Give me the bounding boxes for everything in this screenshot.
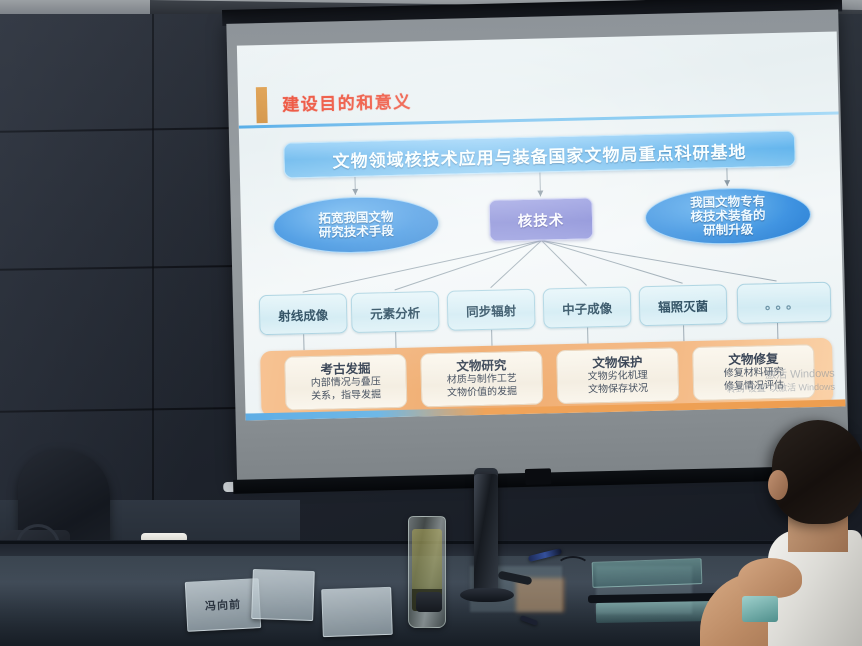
application-heading: 文物保护 (592, 355, 642, 371)
technique-box-more: 。。。 (737, 282, 832, 324)
application-desc-line1: 文物劣化机理 (588, 370, 648, 384)
name-placard: 冯向前 (185, 578, 262, 632)
technique-label: 元素分析 (370, 302, 420, 322)
technique-box: 中子成像 (543, 286, 632, 328)
title-accent-bar (256, 87, 268, 123)
technique-row: 射线成像 元素分析 同步辐射 中子成像 辐照灭菌 。。。 (259, 282, 832, 335)
microphone-base (460, 588, 514, 602)
technique-box: 元素分析 (351, 291, 440, 333)
application-desc-line1: 内部情况与叠压 (311, 376, 381, 390)
goal-node-right: 我国文物专有 核技术装备的 研制升级 (644, 186, 811, 246)
application-box: 文物研究 材质与制作工艺 文物价值的发掘 (420, 351, 543, 408)
tablet-tray (592, 558, 703, 588)
application-desc-line2: 关系，指导发掘 (311, 390, 381, 404)
attendee-phone (742, 596, 778, 622)
application-box: 文物保护 文物劣化机理 文物保存状况 (556, 347, 679, 404)
screen-pull-knob (525, 468, 551, 485)
application-heading: 考古发掘 (320, 361, 370, 377)
wall-seam-vertical (152, 14, 154, 574)
application-desc-line1: 材质与制作工艺 (447, 373, 517, 387)
goal-node-left: 拓宽我国文物 研究技术手段 (272, 195, 439, 255)
slide-title: 建设目的和意义 (282, 88, 412, 116)
conference-room-photo: 建设目的和意义 文物领域核技术应用与装备国家文物局重点科研基地 拓宽我国文物 研… (0, 0, 862, 646)
screen-surface: 建设目的和意义 文物领域核技术应用与装备国家文物局重点科研基地 拓宽我国文物 研… (226, 9, 849, 483)
application-box: 考古发掘 内部情况与叠压 关系，指导发掘 (284, 354, 407, 411)
technique-label: 射线成像 (278, 304, 328, 324)
microphone-stem (474, 474, 498, 594)
base-name-text: 文物领域核技术应用与装备国家文物局重点科研基地 (332, 137, 746, 172)
name-placard (321, 587, 393, 637)
cable (556, 556, 590, 578)
name-placard (251, 569, 315, 621)
presentation-slide: 建设目的和意义 文物领域核技术应用与装备国家文物局重点科研基地 拓宽我国文物 研… (237, 32, 846, 421)
name-placard-text: 冯向前 (205, 596, 242, 614)
windows-activation-watermark: 激活 Windows 转到"设置"以激活 Windows (726, 368, 835, 396)
attendee-head (772, 420, 862, 524)
core-technology-node: 核技术 (489, 197, 594, 241)
technique-ellipsis-label: 。。。 (765, 293, 803, 313)
technique-box: 射线成像 (259, 293, 348, 335)
base-name-banner: 文物领域核技术应用与装备国家文物局重点科研基地 (283, 131, 796, 179)
tablet-device (596, 601, 716, 623)
technique-box: 同步辐射 (447, 289, 536, 331)
application-desc-line2: 文物保存状况 (588, 383, 648, 397)
technique-box: 辐照灭菌 (639, 284, 728, 326)
core-technology-label: 核技术 (518, 208, 565, 230)
application-heading: 文物修复 (728, 352, 778, 368)
goal-right-text: 我国文物专有 核技术装备的 研制升级 (690, 194, 766, 238)
technique-label: 辐照灭菌 (658, 295, 708, 315)
tumbler-cap (416, 592, 442, 612)
goal-right-line3: 研制升级 (703, 223, 753, 238)
goal-right-line2: 核技术装备的 (690, 208, 765, 224)
technique-label: 同步辐射 (466, 300, 516, 320)
attendee-ear (768, 470, 788, 500)
application-heading: 文物研究 (456, 358, 506, 374)
application-desc-line2: 文物价值的发掘 (447, 386, 517, 400)
projection-screen: 建设目的和意义 文物领域核技术应用与装备国家文物局重点科研基地 拓宽我国文物 研… (222, 0, 853, 490)
technique-label: 中子成像 (562, 297, 612, 317)
attendee-hand (738, 558, 802, 598)
goal-left-line2: 研究技术手段 (319, 224, 394, 240)
goal-left-text: 拓宽我国文物 研究技术手段 (318, 210, 394, 240)
